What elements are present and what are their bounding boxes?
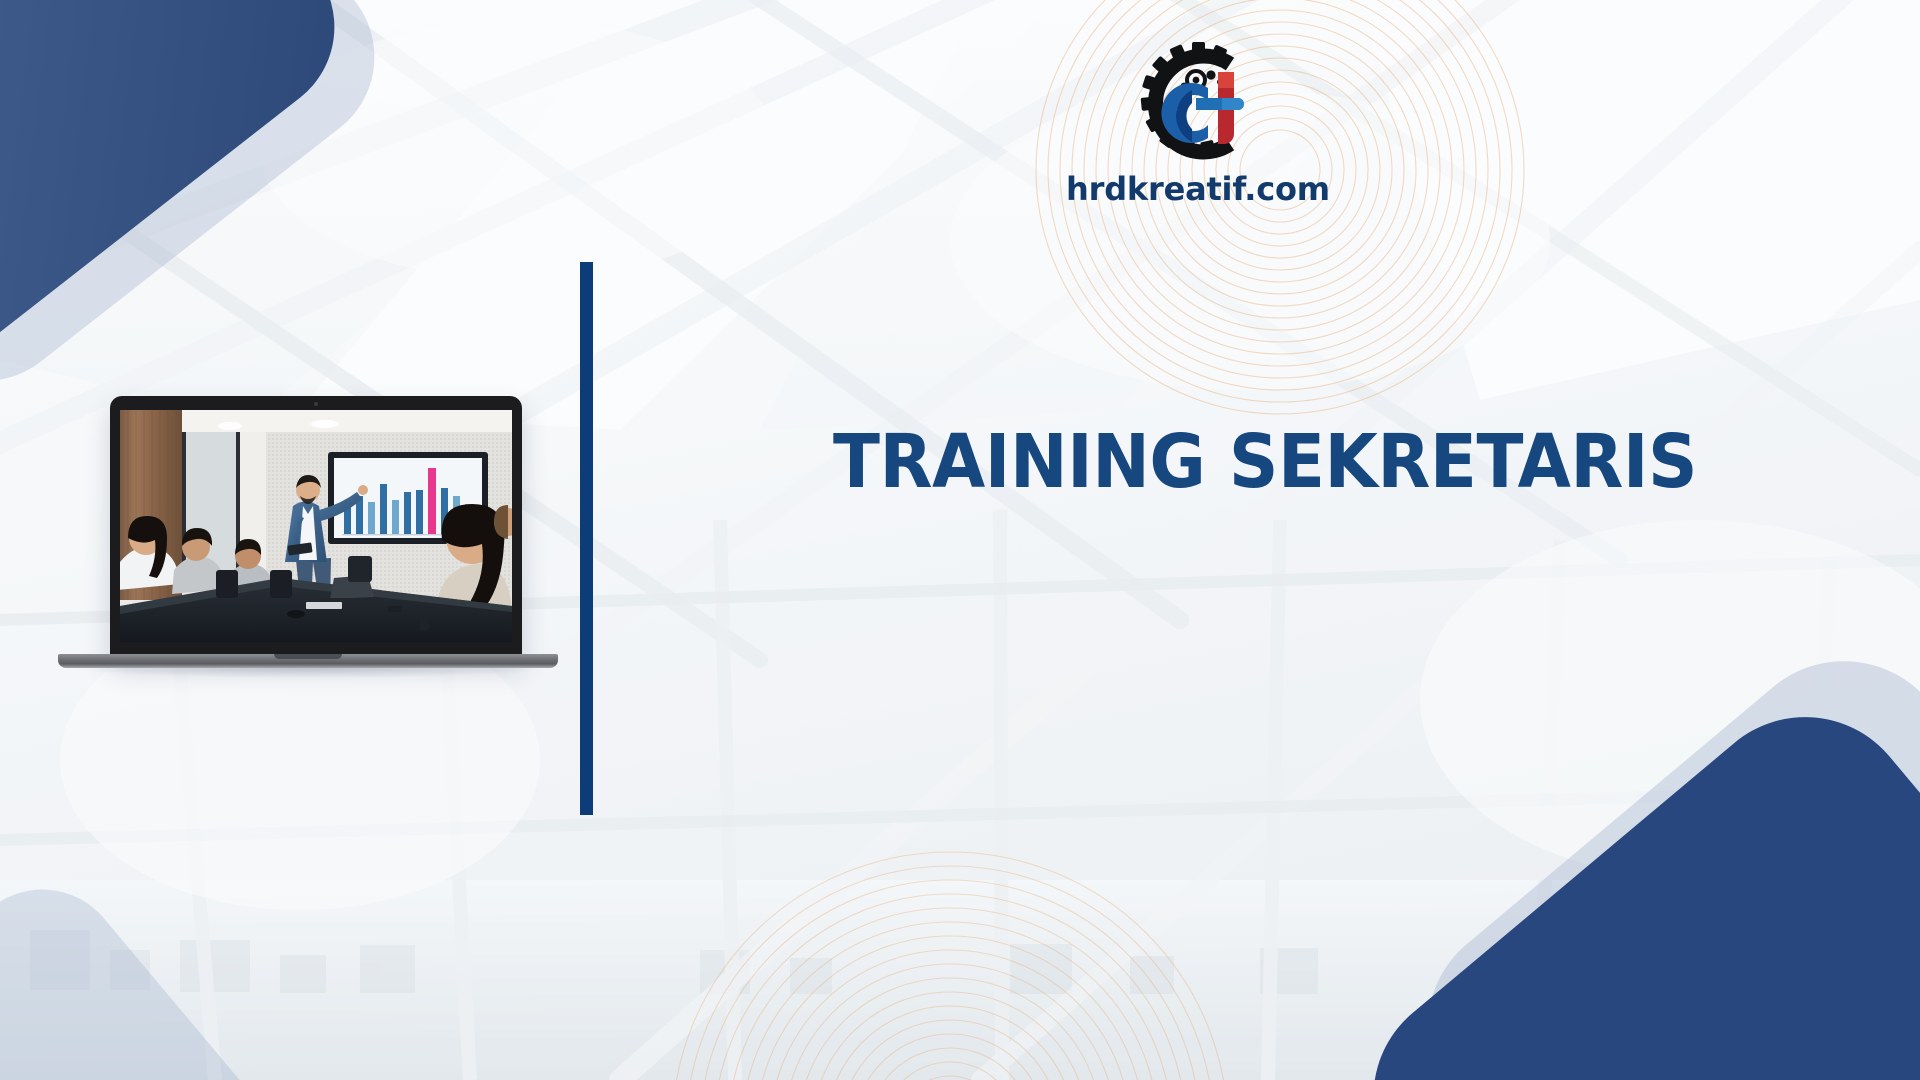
- page-title: TRAINING SEKRETARIS: [833, 425, 1697, 499]
- laptop-screen: [120, 410, 512, 642]
- laptop-mockup: [58, 396, 558, 692]
- gear-logo-icon: [1134, 42, 1262, 166]
- title-accent-bar: [580, 262, 593, 815]
- laptop-shadow: [74, 668, 542, 678]
- brand-logo[interactable]: hrdkreatif.com: [1048, 42, 1348, 208]
- laptop-camera-icon: [314, 402, 318, 406]
- laptop-trackpad-notch: [274, 654, 342, 659]
- brand-wordmark: hrdkreatif.com: [1048, 170, 1348, 208]
- training-banner: hrdkreatif.com TRAINING SEKRETARIS: [0, 0, 1920, 1080]
- laptop-lid: [110, 396, 522, 658]
